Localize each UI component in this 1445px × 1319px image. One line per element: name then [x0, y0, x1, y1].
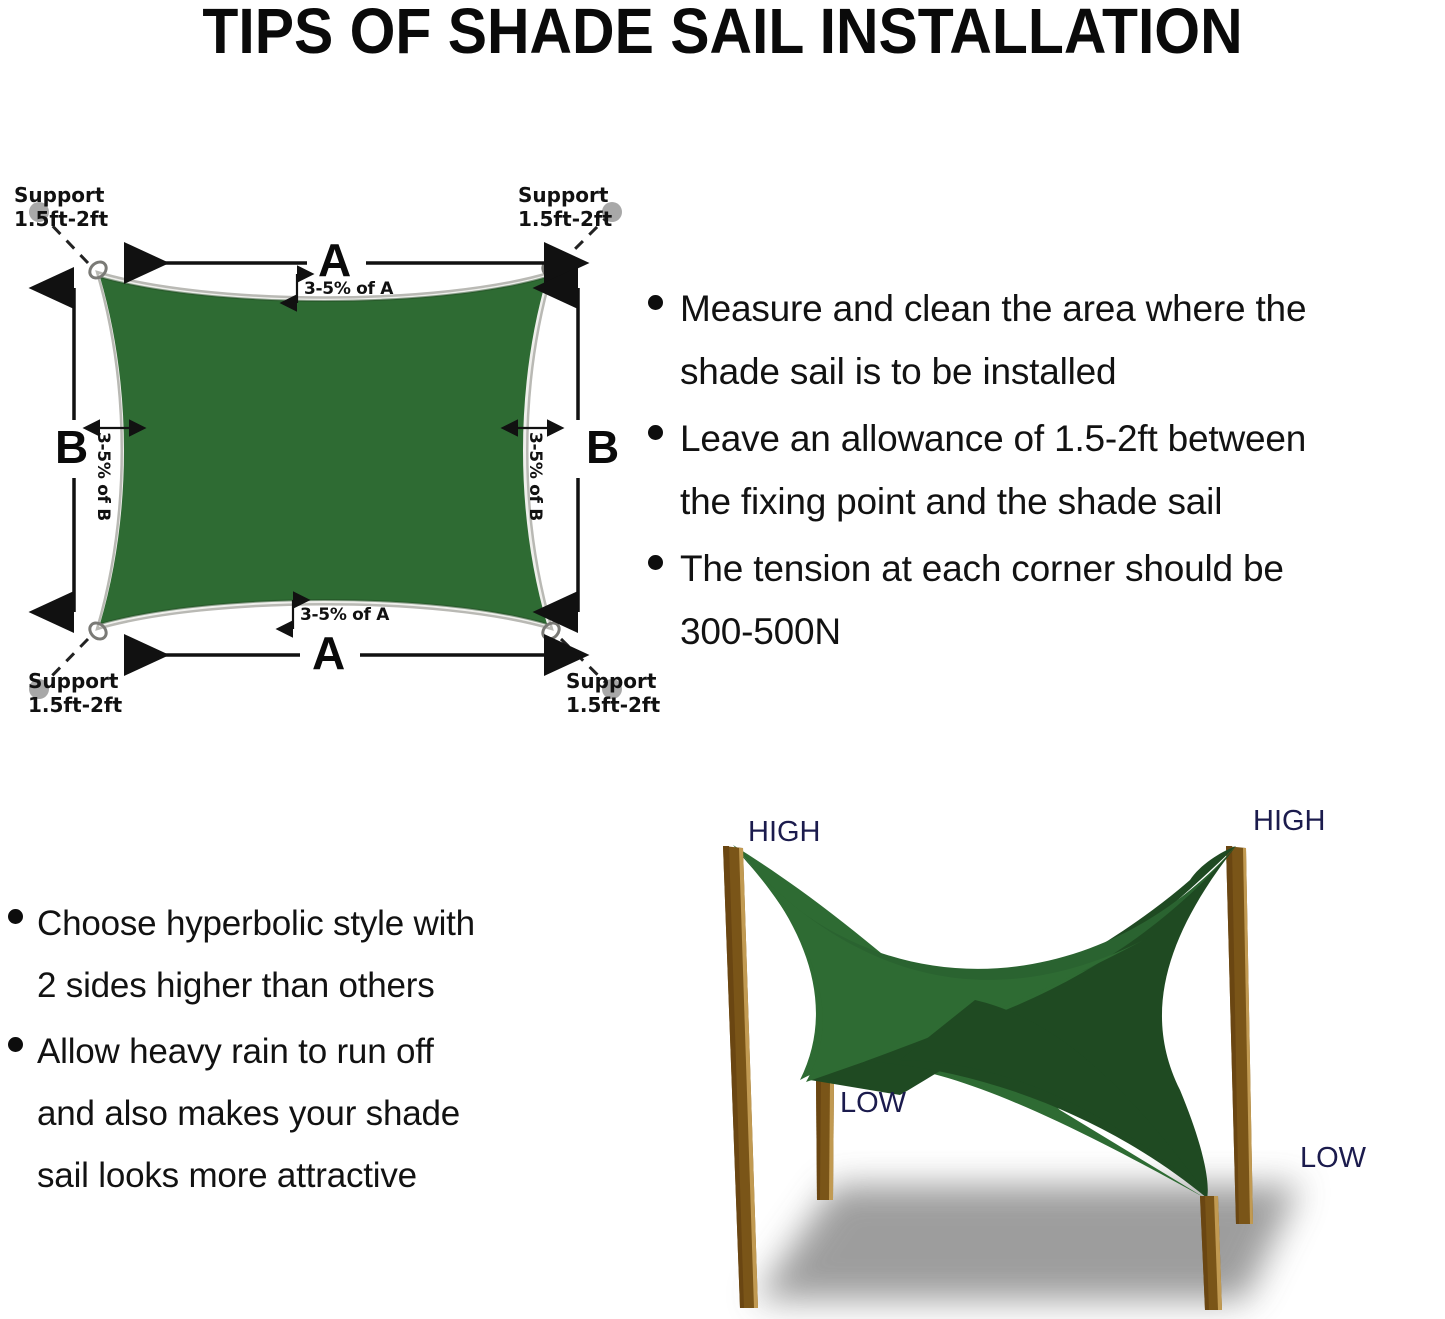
bullet-dot-icon — [648, 295, 663, 310]
tip-3-line-1: The tension at each corner should be — [680, 548, 1284, 589]
support-label-bottom-right: Support 1.5ft-2ft — [566, 669, 660, 717]
d-ring-top-left — [87, 259, 110, 281]
sail-tail-lower-right — [900, 1000, 1208, 1196]
sail-body — [100, 277, 547, 624]
curve-depth-label-left: 3-5% of B — [93, 432, 113, 521]
hyperbolic-style-tips-list: Choose hyperbolic style with 2 sides hig… — [8, 893, 628, 1211]
sail-lobe-left — [733, 845, 1205, 1198]
infographic-page: TIPS OF SHADE SAIL INSTALLATION — [0, 0, 1445, 1319]
d-ring-top-right — [540, 259, 563, 281]
tip-item-1: Measure and clean the area where the sha… — [648, 277, 1445, 403]
dimension-letter-a-top: A — [318, 237, 351, 283]
tip-1-line-1: Measure and clean the area where the — [680, 288, 1306, 329]
tip-item-2: Leave an allowance of 1.5-2ft between th… — [648, 407, 1445, 533]
tip-5-line-3: sail looks more attractive — [37, 1156, 417, 1195]
bullet-dot-icon — [648, 425, 663, 440]
page-title: TIPS OF SHADE SAIL INSTALLATION — [58, 0, 1387, 68]
tip-item-5: Allow heavy rain to run off and also mak… — [8, 1021, 628, 1207]
tip-item-3: The tension at each corner should be 300… — [648, 537, 1445, 663]
curve-depth-label-right: 3-5% of B — [525, 432, 545, 521]
tip-item-4: Choose hyperbolic style with 2 sides hig… — [8, 893, 628, 1017]
tip-3-line-2: 300-500N — [680, 611, 841, 652]
tip-2-line-1: Leave an allowance of 1.5-2ft between — [680, 418, 1306, 459]
tip-5-line-2: and also makes your shade — [37, 1094, 460, 1133]
corner-d-ring-group — [87, 259, 563, 642]
label-low-left: LOW — [840, 1087, 906, 1120]
support-label-top-right: Support 1.5ft-2ft — [518, 183, 612, 231]
tip-4-line-2: 2 sides higher than others — [37, 966, 435, 1005]
d-ring-bottom-right — [540, 620, 563, 642]
bullet-dot-icon — [648, 555, 663, 570]
bullet-dot-icon — [8, 1037, 23, 1052]
support-label-bottom-left: Support 1.5ft-2ft — [28, 669, 122, 717]
bullet-dot-icon — [8, 909, 23, 924]
curve-depth-label-top: 3-5% of A — [304, 279, 393, 299]
sail-hem-outline — [97, 272, 552, 629]
post-high-right — [1226, 846, 1253, 1224]
label-high-right: HIGH — [1253, 805, 1326, 838]
post-low-right — [1200, 1196, 1222, 1310]
post-low-left — [816, 1080, 834, 1200]
sail-upper-belly — [733, 845, 1236, 1063]
dimension-letter-b-left: B — [55, 424, 88, 470]
label-low-right: LOW — [1300, 1142, 1366, 1175]
installation-tips-list: Measure and clean the area where the sha… — [648, 277, 1445, 667]
sail-front-left-face — [733, 846, 1162, 1082]
tip-2-line-2: the fixing point and the shade sail — [680, 481, 1222, 522]
curve-depth-label-bottom: 3-5% of A — [300, 605, 389, 625]
ground-shadow — [755, 1185, 1300, 1300]
tip-4-line-1: Choose hyperbolic style with — [37, 904, 475, 943]
d-ring-bottom-left — [87, 620, 110, 642]
label-high-left: HIGH — [748, 816, 821, 849]
support-label-top-left: Support 1.5ft-2ft — [14, 183, 108, 231]
tip-1-line-2: shade sail is to be installed — [680, 351, 1116, 392]
post-high-left — [723, 846, 758, 1308]
sail-body-right-triangle — [830, 846, 1236, 1198]
sail-body-left-triangle — [733, 845, 1160, 1080]
dimension-letter-b-right: B — [586, 424, 619, 470]
tip-5-line-1: Allow heavy rain to run off — [37, 1032, 434, 1071]
sail-lobe-right — [810, 846, 1236, 1095]
dimension-letter-a-bottom: A — [312, 630, 345, 676]
